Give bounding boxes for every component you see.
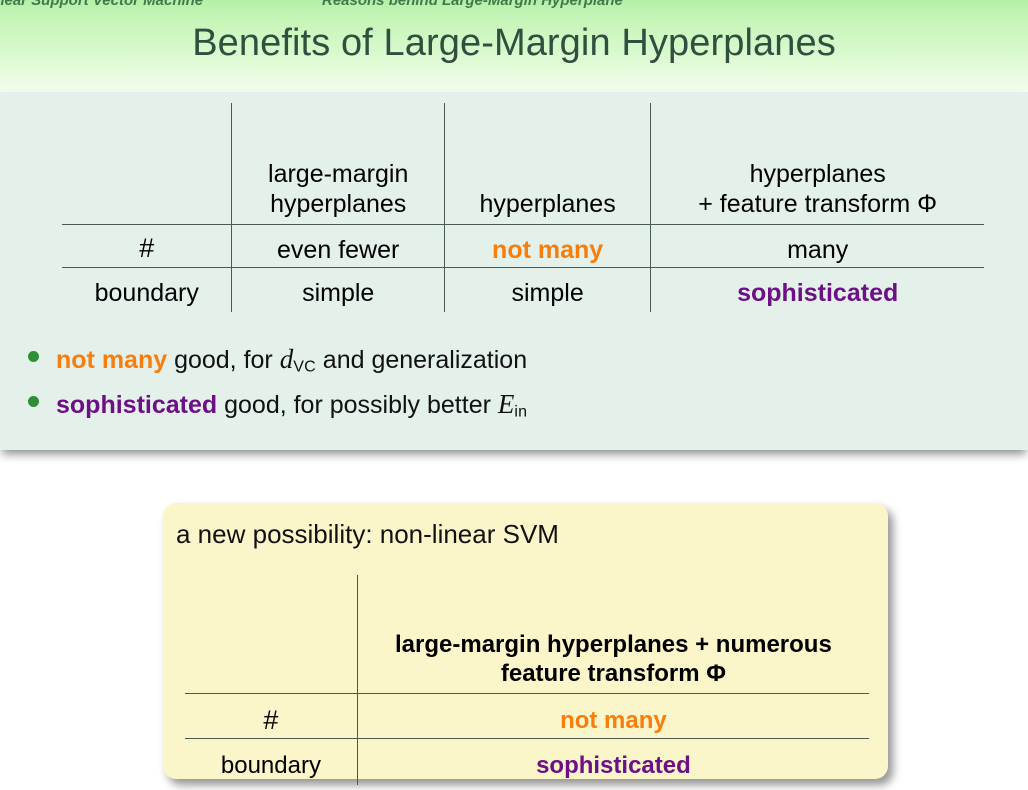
table-row: boundary sophisticated: [185, 739, 869, 786]
row-label-count: #: [62, 225, 232, 268]
bullet-text-after: and generalization: [316, 346, 527, 374]
list-item: sophisticated good, for possibly better …: [28, 390, 988, 421]
callout-header-line-1: large-margin: [395, 631, 540, 658]
table-row: boundary simple simple sophisticated: [62, 268, 984, 313]
callout-title: a new possibility: non-linear SVM: [176, 519, 559, 550]
bullet-text-2: sophisticated good, for possibly better …: [56, 390, 527, 421]
callout-box: a new possibility: non-linear SVM large-…: [163, 503, 888, 779]
cell-count-large-margin: even fewer: [232, 225, 444, 268]
header-line-1: hyperplanes: [651, 160, 984, 190]
header-cell-blank: [62, 103, 232, 225]
comparison-table: large-margin hyperplanes hyperplanes hyp…: [62, 103, 984, 312]
header-line-1: hyperplanes: [445, 190, 650, 220]
running-header: Linear Support Vector Machine Reasons be…: [0, 0, 1028, 14]
bullet-emphasis-not-many: not many: [56, 346, 167, 374]
content-panel: large-margin hyperplanes hyperplanes hyp…: [0, 92, 1028, 450]
bullet-dot-icon: [28, 351, 39, 362]
bullet-text-1: not many good, for dVC and generalizatio…: [56, 345, 527, 376]
list-item: not many good, for dVC and generalizatio…: [28, 345, 988, 376]
page-title: Benefits of Large-Margin Hyperplanes: [0, 22, 1028, 65]
math-subscript-in: in: [514, 404, 527, 421]
header-line-2: hyperplanes: [232, 190, 443, 220]
callout-header-line-2: hyperplanes: [547, 631, 688, 658]
callout-row-label-count: #: [185, 694, 357, 739]
math-variable-ein: E: [498, 389, 515, 419]
callout-cell-boundary: sophisticated: [357, 739, 869, 786]
math-variable-dvc: d: [280, 344, 294, 374]
bullet-emphasis-sophisticated: sophisticated: [56, 391, 217, 419]
callout-table: large-margin hyperplanes + numerous feat…: [185, 575, 869, 785]
row-label-boundary: boundary: [62, 268, 232, 313]
table-header-row: large-margin hyperplanes hyperplanes hyp…: [62, 103, 984, 225]
callout-row-label-boundary: boundary: [185, 739, 357, 786]
cell-boundary-feature-transform: sophisticated: [651, 268, 984, 313]
running-header-right: Reasons behind Large-Margin Hyperplane: [322, 0, 623, 9]
cell-count-feature-transform: many: [651, 225, 984, 268]
header-cell-large-margin-hyperplanes: large-margin hyperplanes: [232, 103, 444, 225]
cell-count-hyperplanes: not many: [444, 225, 650, 268]
header-cell-hyperplanes: hyperplanes: [444, 103, 650, 225]
header-cell-hyperplanes-feature-transform: hyperplanes + feature transform Φ: [651, 103, 984, 225]
bullet-text-before: good, for: [167, 346, 280, 374]
callout-header-row: large-margin hyperplanes + numerous feat…: [185, 575, 869, 694]
header-line-2: + feature transform Φ: [651, 190, 984, 220]
header-line-1: large-margin: [232, 160, 443, 190]
table-row: # not many: [185, 694, 869, 739]
math-subscript-vc: VC: [293, 359, 316, 376]
callout-header-cell: large-margin hyperplanes + numerous feat…: [357, 575, 869, 694]
cell-boundary-hyperplanes: simple: [444, 268, 650, 313]
bullet-dot-icon: [28, 396, 39, 407]
running-header-left: Linear Support Vector Machine: [0, 0, 203, 9]
cell-boundary-large-margin: simple: [232, 268, 444, 313]
bullet-text-before: good, for possibly better: [217, 391, 498, 419]
table-row: # even fewer not many many: [62, 225, 984, 268]
callout-header-blank: [185, 575, 357, 694]
bullet-list: not many good, for dVC and generalizatio…: [28, 345, 988, 435]
callout-cell-count: not many: [357, 694, 869, 739]
